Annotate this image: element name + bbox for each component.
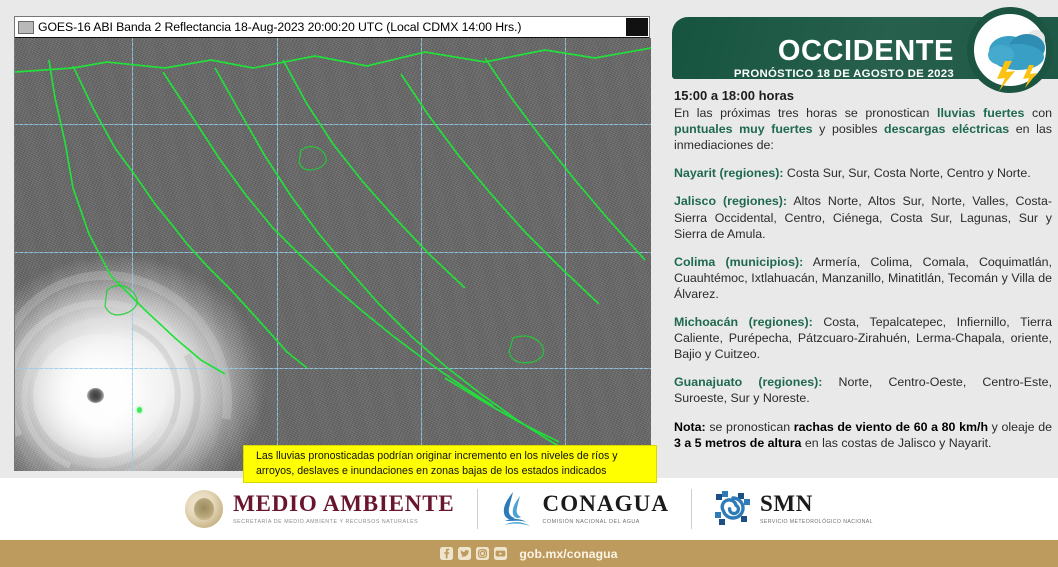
website-url[interactable]: gob.mx/conagua xyxy=(519,547,617,561)
region-label: Jalisco (regiones): xyxy=(674,194,787,208)
facebook-icon[interactable] xyxy=(440,547,453,560)
social-bottom-bar: gob.mx/conagua xyxy=(0,540,1058,567)
thunderstorm-cloud-icon xyxy=(967,7,1053,93)
mexican-eagle-seal-icon xyxy=(185,490,223,528)
footer-logos: MEDIO AMBIENTE SECRETARÍA DE MEDIO AMBIE… xyxy=(0,478,1058,540)
intro-bold-1: lluvias fuertes xyxy=(937,106,1024,120)
region-entry-colima: Colima (municipios): Armería, Colima, Co… xyxy=(674,254,1052,302)
forecast-date-subtitle: PRONÓSTICO 18 DE AGOSTO DE 2023 xyxy=(734,69,954,80)
forecast-body: 15:00 a 18:00 horasEn las próximas tres … xyxy=(674,88,1052,451)
note-label: Nota: xyxy=(674,420,706,434)
logo-divider xyxy=(691,489,692,529)
medio-ambiente-text: MEDIO AMBIENTE SECRETARÍA DE MEDIO AMBIE… xyxy=(233,492,454,525)
region-label: Colima (municipios): xyxy=(674,255,803,269)
coastline-overlay xyxy=(15,38,651,471)
note-bold-2: 3 a 5 metros de altura xyxy=(674,436,801,450)
region-entry-nayarit: Nayarit (regiones): Costa Sur, Sur, Cost… xyxy=(674,165,1052,181)
smn-spiral-icon xyxy=(714,490,752,528)
titlebar-right-block xyxy=(626,18,648,36)
region-label: Nayarit (regiones): xyxy=(674,166,783,180)
note-bold-1: rachas de viento de 60 a 80 km/h xyxy=(794,420,988,434)
twitter-icon[interactable] xyxy=(458,547,471,560)
note-part-3: en las costas de Jalisco y Nayarit. xyxy=(801,436,991,450)
intro-part-1: En las próximas tres horas se pronostica… xyxy=(674,106,937,120)
forecast-time-range: 15:00 a 18:00 horas xyxy=(674,88,1052,104)
conagua-title: CONAGUA xyxy=(543,491,670,516)
instagram-icon[interactable] xyxy=(476,547,489,560)
goes16-satellite-imagery xyxy=(15,38,651,471)
logo-conagua: CONAGUA COMISIÓN NACIONAL DEL AGUA xyxy=(500,490,670,528)
intro-part-3: y posibles xyxy=(813,122,885,136)
smn-title: SMN xyxy=(760,491,813,516)
satellite-title-bar: GOES-16 ABI Banda 2 Reflectancia 18-Aug-… xyxy=(15,17,649,38)
flood-warning-banner: Las lluvias pronosticadas podrían origin… xyxy=(243,445,657,483)
region-entry-guanajuato: Guanajuato (regiones): Norte, Centro-Oes… xyxy=(674,374,1052,406)
region-entry-michoacan: Michoacán (regiones): Costa, Tepalcatepe… xyxy=(674,314,1052,362)
satellite-image-panel: GOES-16 ABI Banda 2 Reflectancia 18-Aug-… xyxy=(14,16,650,471)
logo-medio-ambiente: MEDIO AMBIENTE SECRETARÍA DE MEDIO AMBIE… xyxy=(185,490,454,528)
intro-bold-2: puntuales muy fuertes xyxy=(674,122,813,136)
forecast-intro: 15:00 a 18:00 horasEn las próximas tres … xyxy=(674,88,1052,153)
region-entry-jalisco: Jalisco (regiones): Altos Norte, Altos S… xyxy=(674,193,1052,241)
window-handle-icon xyxy=(18,21,34,34)
intro-part-2: con xyxy=(1024,106,1052,120)
medio-ambiente-subtitle: SECRETARÍA DE MEDIO AMBIENTE Y RECURSOS … xyxy=(233,520,454,525)
storm-center-marker xyxy=(137,407,142,413)
intro-bold-3: descargas eléctricas xyxy=(884,122,1009,136)
region-areas: Costa Sur, Sur, Costa Norte, Centro y No… xyxy=(783,166,1030,180)
infographic-page: GOES-16 ABI Banda 2 Reflectancia 18-Aug-… xyxy=(0,0,1058,567)
forecast-note: Nota: se pronostican rachas de viento de… xyxy=(674,419,1052,451)
youtube-icon[interactable] xyxy=(494,547,507,560)
region-label: Guanajuato (regiones): xyxy=(674,375,822,389)
smn-text: SMN SERVICIO METEOROLÓGICO NACIONAL xyxy=(760,492,873,525)
conagua-water-icon xyxy=(500,490,534,528)
conagua-text: CONAGUA COMISIÓN NACIONAL DEL AGUA xyxy=(543,492,670,525)
logo-divider xyxy=(477,489,478,529)
note-part-1: se pronostican xyxy=(706,420,794,434)
region-label: Michoacán (regiones): xyxy=(674,315,813,329)
conagua-subtitle: COMISIÓN NACIONAL DEL AGUA xyxy=(543,520,670,525)
smn-subtitle: SERVICIO METEOROLÓGICO NACIONAL xyxy=(760,519,873,525)
forecast-panel: OCCIDENTE PRONÓSTICO 18 DE AGOSTO DE 202… xyxy=(664,0,1058,478)
note-part-2: y oleaje de xyxy=(988,420,1052,434)
logo-smn: SMN SERVICIO METEOROLÓGICO NACIONAL xyxy=(714,490,873,528)
medio-ambiente-title: MEDIO AMBIENTE xyxy=(233,491,454,516)
page-title: OCCIDENTE xyxy=(778,37,954,66)
satellite-title-text: GOES-16 ABI Banda 2 Reflectancia 18-Aug-… xyxy=(38,20,521,34)
